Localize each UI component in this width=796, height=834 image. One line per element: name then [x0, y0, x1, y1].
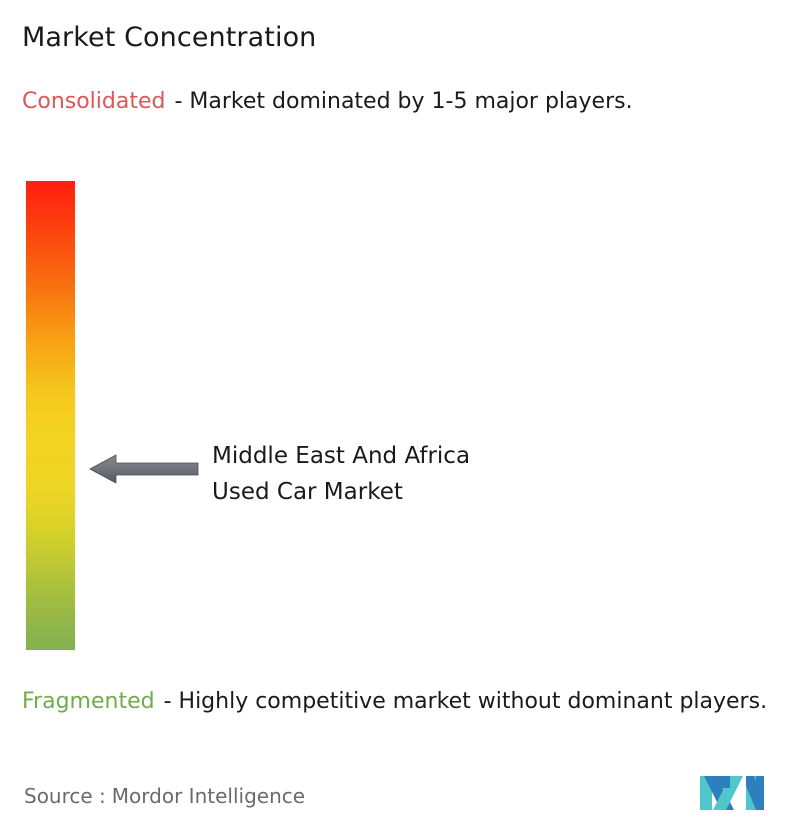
- legend-consolidated-keyword: Consolidated: [22, 89, 165, 114]
- source-label: Source :: [24, 784, 106, 808]
- legend-fragmented-description: - Highly competitive market without domi…: [164, 689, 767, 714]
- source-attribution: Source :Mordor Intelligence: [24, 783, 305, 809]
- legend-consolidated-description: - Market dominated by 1-5 major players.: [174, 89, 632, 114]
- source-value: Mordor Intelligence: [112, 784, 305, 808]
- legend-fragmented: Fragmented- Highly competitive market wi…: [22, 686, 792, 717]
- page-title: Market Concentration: [22, 21, 316, 55]
- legend-fragmented-keyword: Fragmented: [22, 689, 155, 714]
- pointer-label-line-1: Middle East And Africa: [212, 438, 470, 474]
- concentration-scale: [25, 180, 76, 651]
- market-concentration-infographic: Market Concentration Consolidated- Marke…: [0, 0, 796, 834]
- footer-divider: [0, 764, 796, 765]
- legend-consolidated: Consolidated- Market dominated by 1-5 ma…: [22, 86, 762, 117]
- pointer-arrow-icon: [88, 452, 200, 486]
- mordor-intelligence-logo: [700, 772, 764, 814]
- pointer-label-line-2: Used Car Market: [212, 474, 470, 510]
- concentration-gradient-bar: [26, 181, 75, 650]
- pointer-label: Middle East And Africa Used Car Market: [212, 438, 470, 510]
